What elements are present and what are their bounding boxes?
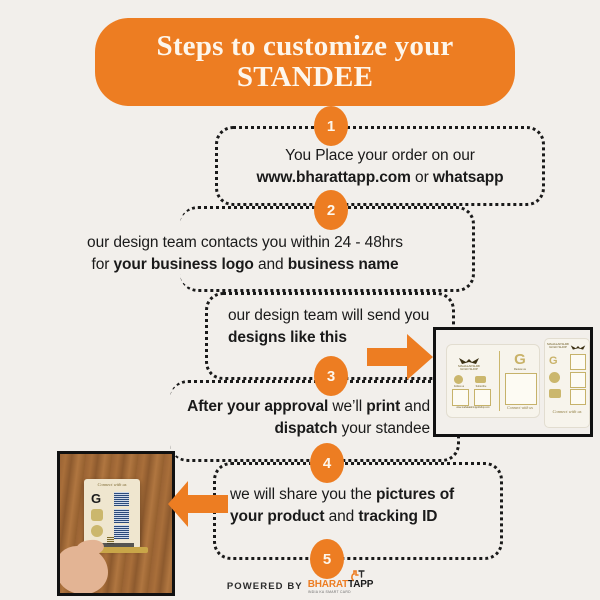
instagram-icon bbox=[91, 509, 103, 521]
mockup-brand-label: MAHALAKSHMI GOLD SHOP bbox=[451, 357, 487, 372]
youtube-icon bbox=[549, 389, 561, 398]
text-segment: we’ll bbox=[328, 398, 366, 415]
text-segment-bold: business name bbox=[288, 256, 399, 273]
text-segment: our design team will send you bbox=[228, 307, 429, 324]
step-5-text: we will share you the pictures of your p… bbox=[230, 484, 505, 528]
step-1-line-1: You Place your order on our bbox=[215, 145, 545, 167]
powered-by-label: POWERED BY bbox=[227, 581, 303, 592]
product-photo: Connect with us G bbox=[57, 451, 175, 596]
badge-number: 2 bbox=[327, 202, 335, 219]
step-2-line-1: our design team contacts you within 24 -… bbox=[20, 232, 470, 254]
step-4-line-1: After your approval we’ll print and bbox=[100, 396, 430, 418]
step-1-text: You Place your order on our www.bharatta… bbox=[215, 145, 545, 189]
text-segment: You Place your order on our bbox=[285, 147, 475, 164]
step-4-line-2: dispatch your standee bbox=[100, 418, 430, 440]
arrow-right-icon bbox=[367, 334, 433, 380]
text-segment: and bbox=[324, 508, 358, 525]
badge-number: 5 bbox=[323, 551, 331, 568]
qr-code bbox=[114, 525, 129, 539]
text-segment-bold: your product bbox=[230, 508, 324, 525]
text-segment: we will share you the bbox=[230, 486, 376, 503]
brand-name-part1: BHARAT bbox=[308, 579, 348, 590]
brand-label-text: MAHALAKSHMI GOLD SHOP bbox=[547, 342, 569, 349]
text-segment: and bbox=[254, 256, 288, 273]
qr-placeholder bbox=[452, 389, 469, 406]
step-2-text: our design team contacts you within 24 -… bbox=[20, 232, 470, 276]
tap-logo-icon bbox=[349, 569, 365, 585]
mockup-website: www.mahalakshmigoldshop.com bbox=[449, 407, 497, 409]
text-segment-bold: tracking ID bbox=[358, 508, 437, 525]
arrow-left-icon bbox=[168, 481, 228, 527]
qr-placeholder-large bbox=[505, 373, 537, 405]
step-badge-4: 4 bbox=[310, 443, 344, 483]
title-line-1: Steps to customize your bbox=[157, 30, 454, 62]
text-segment-bold: dispatch bbox=[274, 420, 337, 437]
text-segment-bold: your business logo bbox=[114, 256, 254, 273]
brand-tagline: INDIA KA SMART CARD bbox=[308, 591, 351, 594]
text-segment: and bbox=[400, 398, 430, 415]
google-letter: G bbox=[549, 355, 558, 367]
step-badge-1: 1 bbox=[314, 106, 348, 146]
design-mockup-wide: MAHALAKSHMI GOLD SHOP Follow us Subscrib… bbox=[446, 344, 540, 418]
step-badge-3: 3 bbox=[314, 356, 348, 396]
text-segment-bold: www.bharattapp.com bbox=[256, 169, 410, 186]
design-preview-image: MAHALAKSHMI GOLD SHOP Follow us Subscrib… bbox=[433, 327, 593, 437]
step-badge-2: 2 bbox=[314, 190, 348, 230]
text-segment-bold: pictures of bbox=[376, 486, 454, 503]
infographic-canvas: Steps to customize your STANDEE You Plac… bbox=[0, 0, 600, 600]
text-segment: for bbox=[92, 256, 114, 273]
mockup-brand-label-2: MAHALAKSHMI GOLD SHOP bbox=[547, 343, 569, 350]
qr-code bbox=[114, 509, 129, 523]
connect-caption: Connect with us bbox=[505, 405, 535, 410]
page-title: Steps to customize your STANDEE bbox=[157, 31, 454, 94]
step-5-line-2: your product and tracking ID bbox=[230, 506, 505, 528]
title-line-2: STANDEE bbox=[237, 61, 373, 93]
scan-caption: Review us bbox=[505, 368, 535, 371]
step-4-text: After your approval we’ll print and disp… bbox=[100, 396, 430, 440]
qr-placeholder bbox=[474, 389, 491, 406]
text-segment-bold: designs like this bbox=[228, 329, 347, 346]
step-5-line-1: we will share you the pictures of bbox=[230, 484, 505, 506]
step-badge-5: 5 bbox=[310, 539, 344, 579]
facebook-icon bbox=[454, 375, 463, 384]
standee-card: Connect with us G bbox=[84, 479, 140, 549]
google-letter: G bbox=[91, 492, 101, 505]
text-segment-bold: After your approval bbox=[187, 398, 328, 415]
whatsapp-icon bbox=[91, 525, 103, 537]
text-segment: or bbox=[411, 169, 433, 186]
connect-caption: Connect with us bbox=[548, 409, 586, 414]
step-3-line-1: our design team will send you bbox=[228, 305, 458, 327]
badge-number: 3 bbox=[327, 368, 335, 385]
step-2-line-2: for your business logo and business name bbox=[20, 254, 470, 276]
badge-number: 4 bbox=[323, 455, 331, 472]
qr-placeholder bbox=[570, 354, 586, 370]
brand-label-text: MAHALAKSHMI GOLD SHOP bbox=[458, 364, 480, 371]
qr-placeholder bbox=[570, 372, 586, 388]
text-segment: our design team contacts you within 24 -… bbox=[87, 234, 403, 251]
social-label-0: Follow us bbox=[450, 385, 468, 388]
design-mockup-tall: MAHALAKSHMI GOLD SHOP G Connect with us bbox=[544, 338, 590, 428]
title-banner: Steps to customize your STANDEE bbox=[95, 18, 515, 106]
text-segment: your standee bbox=[337, 420, 430, 437]
standee-caption: Connect with us bbox=[88, 482, 136, 487]
qr-placeholder bbox=[570, 389, 586, 405]
text-segment-bold: whatsapp bbox=[433, 169, 504, 186]
badge-number: 1 bbox=[327, 118, 335, 135]
youtube-icon bbox=[475, 376, 486, 383]
qr-code bbox=[114, 492, 129, 506]
google-letter: G bbox=[509, 351, 531, 368]
step-1-line-2: www.bharattapp.com or whatsapp bbox=[215, 167, 545, 189]
text-segment-bold: print bbox=[366, 398, 400, 415]
facebook-icon bbox=[549, 372, 560, 383]
social-label-1: Subscribe bbox=[472, 385, 490, 388]
